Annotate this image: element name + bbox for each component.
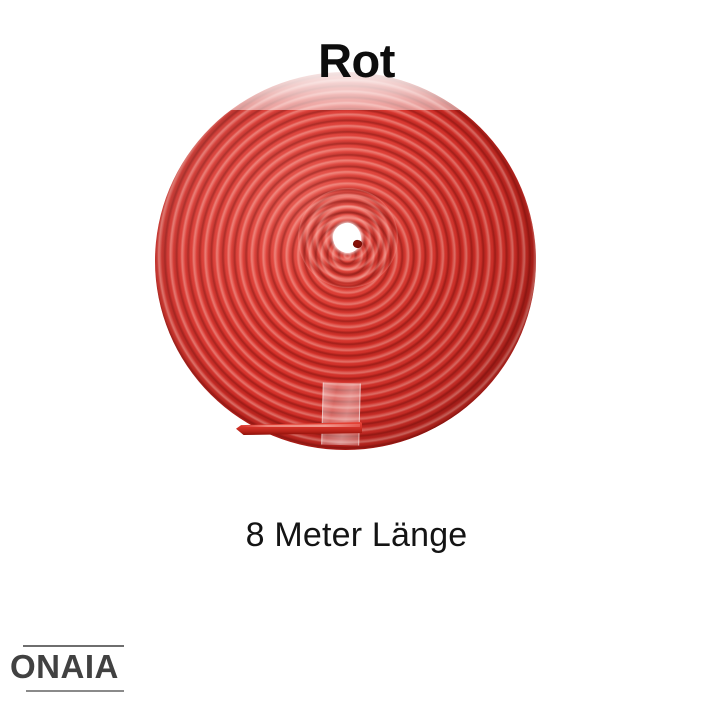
loose-end-body <box>236 422 362 435</box>
brand-watermark: ONAIA <box>10 645 160 692</box>
logo-wordmark: ONAIA <box>10 650 160 685</box>
loose-end <box>236 422 362 437</box>
product-image-canvas: Rot 8 Meter Länge ONAIA <box>0 0 713 713</box>
length-caption: 8 Meter Länge <box>0 518 713 552</box>
product-photo <box>148 64 544 460</box>
logo-rule-bottom <box>26 690 124 692</box>
logo-rule-top <box>23 645 124 647</box>
red-coil <box>155 72 536 450</box>
page-title: Rot <box>0 37 713 84</box>
